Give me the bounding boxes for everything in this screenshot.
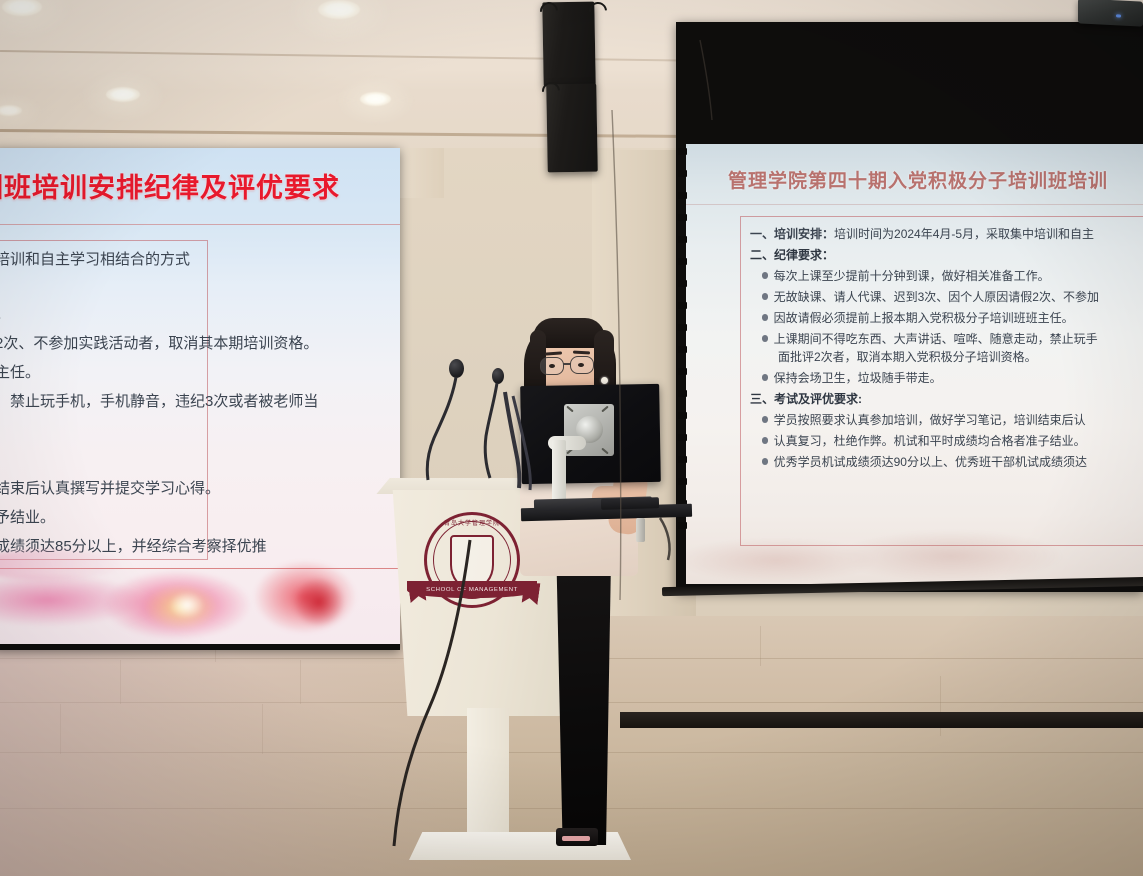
bullet-icon bbox=[762, 272, 768, 278]
slide-bullet: 无故缺课、请人代课、迟到3次、因个人原因请假2次、不参加 bbox=[762, 291, 1099, 303]
ink-blob bbox=[292, 576, 346, 628]
wall-pillar-left bbox=[398, 148, 444, 198]
bullet-text: 认真复习，杜绝作弊。机试和平时成绩均合格者准子结业。 bbox=[774, 434, 1086, 448]
slide-bullet: 因故请假必须提前上报本期入党积极分子培训班班主任。 bbox=[762, 312, 1099, 324]
slide-section-heading: 一、培训安排：培训时间为2024年4月-5月，采取集中培训和自主 bbox=[750, 228, 1099, 240]
slide-section-heading: 三、考试及评优要求: bbox=[750, 393, 1099, 405]
presenter-earring bbox=[601, 377, 608, 384]
presenter-eye bbox=[549, 364, 555, 368]
section-body-text: 培训时间为2024年4月-5月，采取集中培训和自主 bbox=[834, 227, 1094, 241]
bullet-text: 因故请假必须提前上报本期入党积极分子培训班班主任。 bbox=[774, 311, 1074, 325]
bullet-icon bbox=[762, 335, 768, 341]
right-slide-body: 一、培训安排：培训时间为2024年4月-5月，采取集中培训和自主 二、纪律要求：… bbox=[750, 228, 1099, 468]
ceiling-downlight bbox=[106, 87, 140, 102]
section-heading-label: 一、培训安排： bbox=[750, 227, 834, 241]
bullet-text: 保持会场卫生，垃圾随手带走。 bbox=[774, 371, 942, 385]
ink-blob bbox=[0, 574, 142, 626]
podium-emblem: 青岛大学管理学院 SCHOOL OF MANAGEMENT bbox=[424, 512, 520, 608]
right-projection-screen-surface: 管理学院第四十期入党积极分子培训班培训 一、培训安排：培训时间为2024年4月-… bbox=[686, 144, 1143, 584]
ceiling-downlight bbox=[0, 105, 22, 116]
podium-column bbox=[467, 708, 509, 836]
slide-bullet: 上课期间不得吃东西、大声讲话、喧哗、随意走动，禁止玩手 bbox=[762, 333, 1099, 345]
emblem-chinese-text: 青岛大学管理学院 bbox=[424, 518, 520, 527]
bullet-text: 无故缺课、请人代课、迟到3次、因个人原因请假2次、不参加 bbox=[774, 290, 1099, 304]
floor-plank-seam bbox=[760, 626, 761, 666]
right-projection-screen-frame: 管理学院第四十期入党积极分子培训班培训 一、培训安排：培训时间为2024年4月-… bbox=[676, 22, 1143, 592]
right-slide-divider bbox=[686, 204, 1143, 205]
bullet-text: 上课期间不得吃东西、大声讲话、喧哗、随意走动，禁止玩手 bbox=[774, 332, 1098, 346]
right-slide-title: 管理学院第四十期入党积极分子培训班培训 bbox=[728, 166, 1108, 193]
ink-blob bbox=[250, 558, 360, 636]
slide-bullet: 每次上课至少提前十分钟到课，做好相关准备工作。 bbox=[762, 270, 1099, 282]
presenter-eye bbox=[578, 363, 584, 367]
presenter-shoe-strap bbox=[562, 836, 590, 841]
slide-line: 作。 bbox=[0, 307, 318, 322]
floor-plank-seam bbox=[60, 704, 61, 754]
ceiling-downlight bbox=[318, 0, 360, 19]
slide-bullet: 保持会场卫生，垃圾随手带走。 bbox=[762, 372, 1099, 384]
slide-line: 假2次、不参加实践活动者，取消其本期培训资格。 bbox=[0, 336, 318, 351]
slide-line: 准予结业。 bbox=[0, 510, 318, 525]
floor-plank-seam bbox=[120, 660, 121, 704]
slide-line: 试成绩须达85分以上，并经综合考察择优推 bbox=[0, 539, 318, 554]
bullet-icon bbox=[762, 458, 768, 464]
slide-line: 动，禁止玩手机，手机静音，违纪3次或者被老师当 bbox=[0, 394, 318, 409]
podium-keyboard bbox=[601, 497, 659, 510]
microphone-capsule bbox=[449, 359, 464, 378]
slide-line: 训结束后认真撰写并提交学习心得。 bbox=[0, 481, 318, 496]
ceiling-projector bbox=[1078, 0, 1143, 27]
bullet-text: 学员按照要求认真参加培训，做好学习笔记，培训结束后认 bbox=[774, 413, 1086, 427]
slide-section-heading: 二、纪律要求： bbox=[750, 249, 1099, 261]
ink-blob bbox=[170, 592, 204, 618]
bullet-text: 优秀学员机试成绩须达90分以上、优秀班干部机试成绩须达 bbox=[774, 455, 1087, 469]
slide-line: 班主任。 bbox=[0, 365, 318, 380]
bullet-icon bbox=[762, 293, 768, 299]
lecture-hall-photo: 训班培训安排纪律及评优要求 中培训和自主学习相结合的方式 作。 假2次、不参加实… bbox=[0, 0, 1143, 876]
slide-line: 中培训和自主学习相结合的方式 bbox=[0, 252, 318, 267]
presenter-glasses-bridge bbox=[563, 363, 571, 365]
bullet-icon bbox=[762, 416, 768, 422]
baseboard bbox=[620, 712, 1143, 728]
slide-bullet: 优秀学员机试成绩须达90分以上、优秀班干部机试成绩须达 bbox=[762, 456, 1099, 468]
left-slide-footer-rule bbox=[0, 568, 400, 569]
ink-blob bbox=[102, 570, 252, 640]
slide-bullet: 学员按照要求认真参加培训，做好学习笔记，培训结束后认 bbox=[762, 414, 1099, 426]
ceiling-downlight bbox=[2, 0, 42, 16]
bullet-icon bbox=[762, 437, 768, 443]
left-slide-divider bbox=[0, 224, 400, 225]
monitor-shelf-support bbox=[636, 518, 645, 542]
ink-blob bbox=[144, 584, 218, 630]
bullet-icon bbox=[762, 314, 768, 320]
slide-bullet: 认真复习，杜绝作弊。机试和平时成绩均合格者准子结业。 bbox=[762, 435, 1099, 447]
floor-plank-seam bbox=[300, 660, 301, 704]
screen-tension-tabs bbox=[678, 148, 687, 544]
bullet-text: 每次上课至少提前十分钟到课，做好相关准备工作。 bbox=[774, 269, 1050, 283]
microphone-capsule bbox=[492, 368, 504, 384]
emblem-ribbon-label: SCHOOL OF MANAGEMENT bbox=[426, 587, 518, 592]
bullet-icon bbox=[762, 374, 768, 380]
slide-bullet-continuation: 面批评2次者，取消本期入党积极分子培训资格。 bbox=[778, 351, 1099, 363]
left-slide-body: 中培训和自主学习相结合的方式 作。 假2次、不参加实践活动者，取消其本期培训资格… bbox=[0, 252, 318, 554]
left-slide-title: 训班培训安排纪律及评优要求 bbox=[0, 166, 340, 205]
emblem-ribbon: SCHOOL OF MANAGEMENT bbox=[407, 581, 538, 598]
ceiling-downlight bbox=[360, 92, 391, 106]
projector-status-led bbox=[1116, 14, 1121, 17]
left-projection-screen-frame: 训班培训安排纪律及评优要求 中培训和自主学习相结合的方式 作。 假2次、不参加实… bbox=[0, 148, 400, 650]
left-projection-screen-surface: 训班培训安排纪律及评优要求 中培训和自主学习相结合的方式 作。 假2次、不参加实… bbox=[0, 148, 400, 644]
floor-plank-seam bbox=[262, 704, 263, 754]
